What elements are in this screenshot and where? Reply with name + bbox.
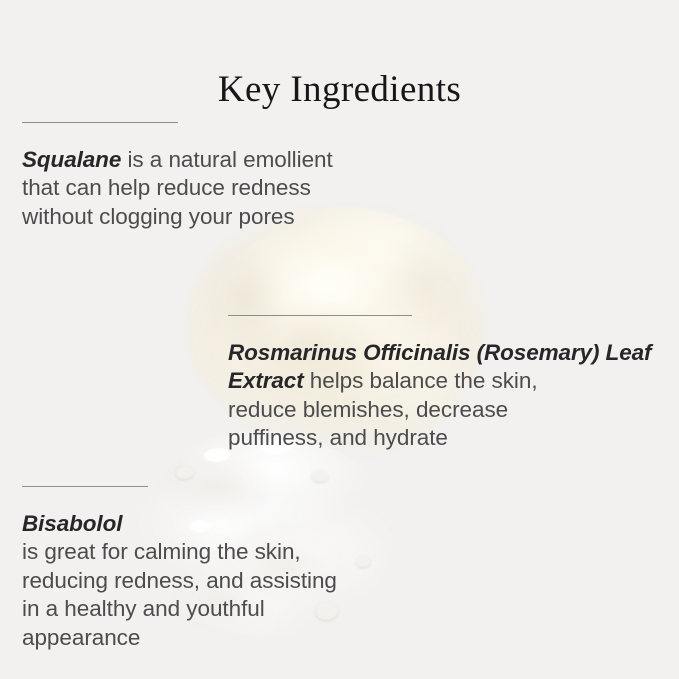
- ingredient-block-bisabolol: Bisabololis great for calming the skin, …: [22, 486, 442, 675]
- key-ingredients-graphic: Key Ingredients Squalane is a natural em…: [0, 0, 679, 679]
- divider-rule-bisabolol: [22, 486, 148, 487]
- ingredient-text-rosemary: Rosmarinus Officinalis (Rosemary) Leaf E…: [228, 339, 660, 453]
- divider-rule-squalane: [22, 122, 178, 123]
- ingredient-name-bisabolol: Bisabolol: [22, 510, 442, 539]
- ingredient-description-bisabolol: is great for calming the skin, reducing …: [22, 539, 337, 650]
- ingredient-name-squalane: Squalane: [22, 147, 121, 172]
- ingredient-block-rosemary: Rosmarinus Officinalis (Rosemary) Leaf E…: [228, 315, 660, 475]
- divider-rule-rosemary: [228, 315, 412, 316]
- page-title: Key Ingredients: [0, 69, 679, 110]
- text-content: Key Ingredients Squalane is a natural em…: [0, 0, 679, 679]
- ingredient-block-squalane: Squalane is a natural emollient that can…: [22, 122, 442, 254]
- ingredient-text-bisabolol: Bisabololis great for calming the skin, …: [22, 510, 442, 653]
- ingredient-text-squalane: Squalane is a natural emollient that can…: [22, 146, 442, 232]
